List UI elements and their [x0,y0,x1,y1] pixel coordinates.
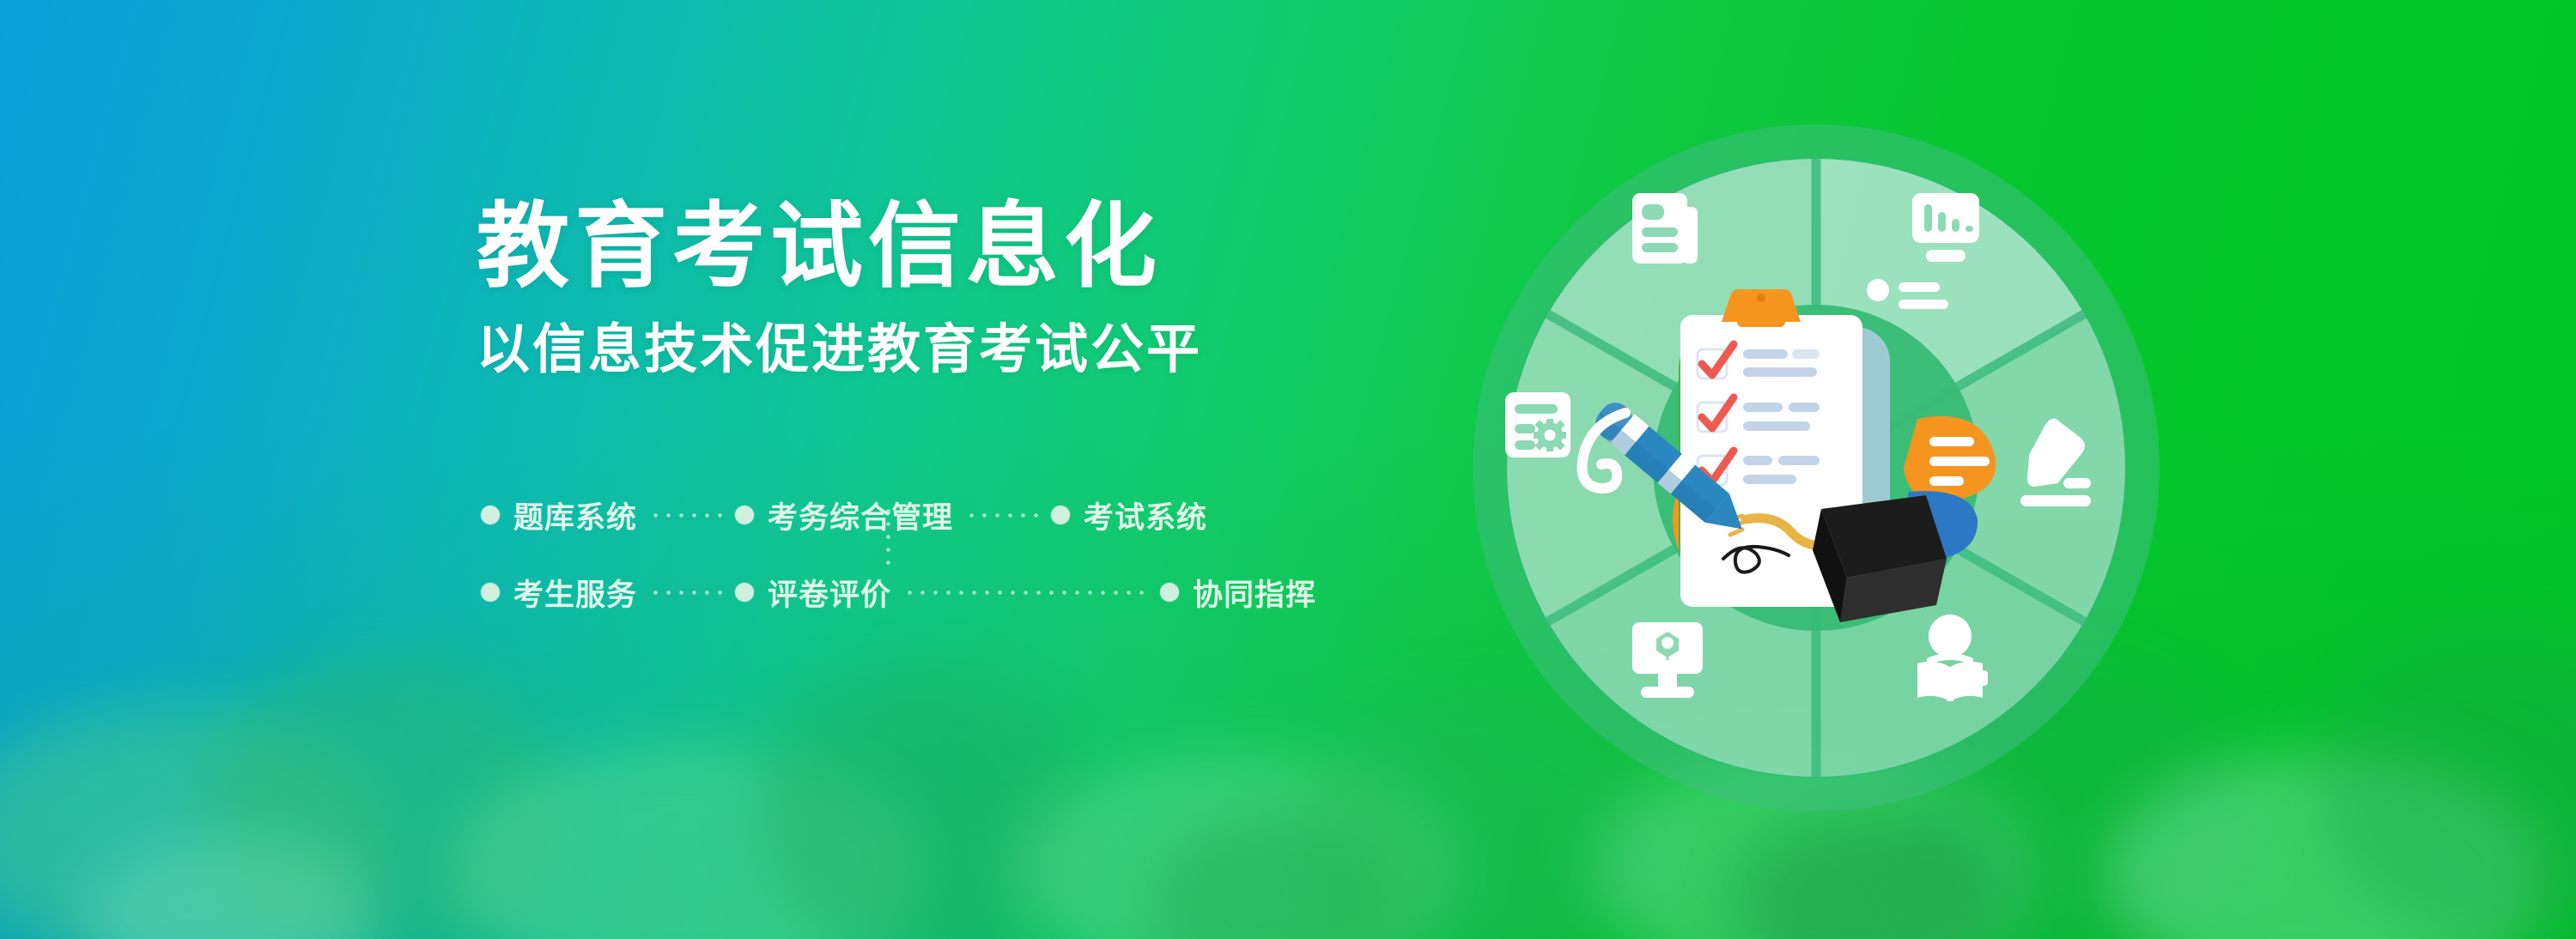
dotted-connector [903,583,1148,602]
dotted-connector [649,583,723,602]
bullet-dot-icon [735,506,754,524]
feature-list: 题库系统 考务综合管理 考试系统 考生服务 评卷评价 [481,476,1254,631]
feature-label: 评卷评价 [768,571,891,615]
bullet-dot-icon [481,583,500,602]
feature-item-kaowu[interactable]: 考务综合管理 [735,494,953,537]
bullet-dot-icon [735,583,754,602]
feature-item-xietong[interactable]: 协同指挥 [1160,571,1316,615]
feature-label: 协同指挥 [1193,571,1316,615]
feature-label: 题库系统 [513,494,637,537]
feature-label: 考务综合管理 [768,494,953,537]
feature-item-kaoshi[interactable]: 考试系统 [1051,494,1207,537]
vertical-dotted-connector [886,505,890,573]
bullet-dot-icon [481,506,500,524]
dotted-connector [965,506,1039,524]
bullet-dot-icon [1160,583,1179,602]
page-subtitle: 以信息技术促进教育考试公平 [477,318,1335,382]
feature-item-tiku[interactable]: 题库系统 [481,494,637,537]
feature-label: 考试系统 [1084,494,1207,537]
education-exam-banner: 教育考试信息化 以信息技术促进教育考试公平 题库系统 考务综合管理 考试系统 [0,0,2576,939]
feature-item-kaosheng[interactable]: 考生服务 [481,571,637,615]
headline-block: 教育考试信息化 以信息技术促进教育考试公平 [477,193,1335,383]
exam-informatization-wheel [1421,73,2211,863]
feature-item-pingjuan[interactable]: 评卷评价 [735,571,891,615]
feature-label: 考生服务 [513,571,637,615]
page-title: 教育考试信息化 [477,193,1335,300]
dotted-connector [649,506,723,524]
bullet-dot-icon [1051,506,1070,524]
feature-row: 考生服务 评卷评价 协同指挥 [481,554,1254,631]
feature-row: 题库系统 考务综合管理 考试系统 [481,476,1254,554]
settings-panel-icon [1505,392,1571,457]
